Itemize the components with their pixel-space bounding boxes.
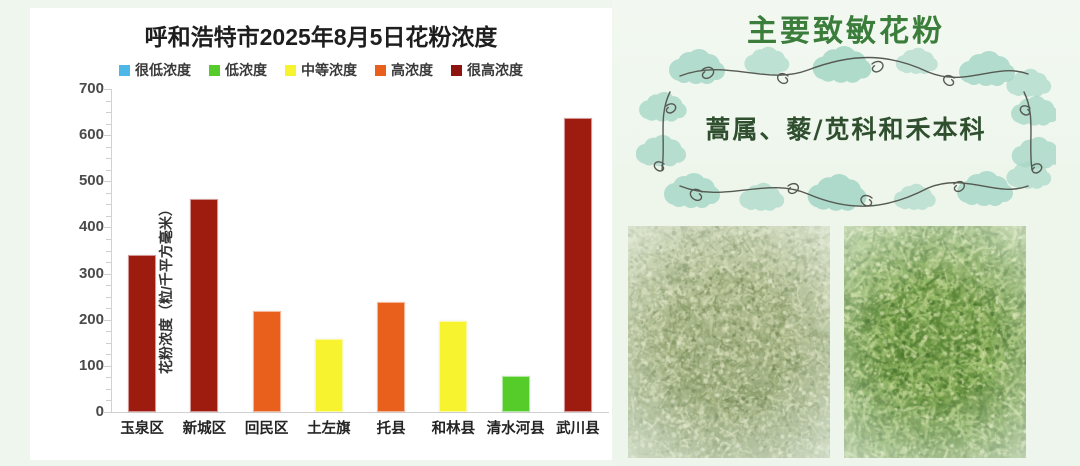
- y-tick-mark: [104, 181, 111, 182]
- plant-photos: [612, 218, 1080, 466]
- y-tick-mark: [106, 216, 111, 217]
- y-tick-mark: [104, 412, 111, 413]
- legend-item-4: 很高浓度: [451, 60, 523, 80]
- y-tick-mark: [106, 239, 111, 240]
- y-tick-mark: [106, 331, 111, 332]
- chart-title: 呼和浩特市2025年8月5日花粉浓度: [30, 18, 612, 52]
- bar-武川县[interactable]: [564, 118, 592, 412]
- legend-swatch-icon: [285, 65, 296, 76]
- bar-玉泉区[interactable]: [128, 255, 156, 412]
- x-tick-label-和林县: 和林县: [422, 417, 484, 438]
- bar-slot: [547, 89, 609, 412]
- y-tick-mark: [106, 170, 111, 171]
- y-tick-mark: [106, 400, 111, 401]
- pollen-chart-card: 呼和浩特市2025年8月5日花粉浓度 很低浓度低浓度中等浓度高浓度很高浓度 花粉…: [30, 8, 612, 460]
- bar-清水河县[interactable]: [502, 376, 530, 412]
- x-tick-label-回民区: 回民区: [236, 417, 298, 438]
- x-tick-label-新城区: 新城区: [173, 417, 235, 438]
- frame-text-area: 蒿属、藜/苋科和禾本科: [678, 72, 1014, 184]
- y-tick-label: 300: [60, 265, 104, 282]
- bar-slot: [485, 89, 547, 412]
- chart-legend: 很低浓度低浓度中等浓度高浓度很高浓度: [30, 60, 612, 80]
- legend-swatch-icon: [375, 65, 386, 76]
- bar-土左旗[interactable]: [315, 339, 343, 412]
- y-tick-mark: [106, 343, 111, 344]
- legend-swatch-icon: [119, 65, 130, 76]
- bar-slot: [298, 89, 360, 412]
- sage-artemisia-plant-photo: [628, 226, 830, 458]
- bar-新城区[interactable]: [190, 199, 218, 412]
- y-tick-mark: [104, 135, 111, 136]
- y-tick-label: 700: [60, 80, 104, 97]
- bar-slot: [111, 89, 173, 412]
- x-tick-label-玉泉区: 玉泉区: [111, 417, 173, 438]
- y-tick-mark: [106, 193, 111, 194]
- y-tick-mark: [106, 204, 111, 205]
- bar-回民区[interactable]: [253, 311, 281, 413]
- legend-item-0: 很低浓度: [119, 60, 191, 80]
- bar-slot: [236, 89, 298, 412]
- bar-托县[interactable]: [377, 302, 405, 412]
- y-tick-mark: [106, 354, 111, 355]
- legend-item-2: 中等浓度: [285, 60, 357, 80]
- y-axis-labels: 0100200300400500600700: [50, 89, 104, 412]
- y-tick-mark: [106, 389, 111, 390]
- y-tick-mark: [106, 101, 111, 102]
- bar-slot: [360, 89, 422, 412]
- y-tick-mark: [106, 308, 111, 309]
- y-tick-mark: [106, 251, 111, 252]
- y-tick-mark: [106, 285, 111, 286]
- y-tick-label: 200: [60, 311, 104, 328]
- bar-slot: [422, 89, 484, 412]
- y-tick-mark: [106, 158, 111, 159]
- legend-label: 很低浓度: [135, 60, 191, 80]
- y-tick-mark: [104, 366, 111, 367]
- y-tick-mark: [104, 227, 111, 228]
- x-axis-line: [111, 412, 609, 413]
- legend-label: 高浓度: [391, 60, 433, 80]
- green-chenopodium-plant-photo: [844, 226, 1026, 458]
- legend-item-1: 低浓度: [209, 60, 267, 80]
- bar-series: [111, 89, 609, 412]
- y-tick-mark: [106, 262, 111, 263]
- y-tick-label: 600: [60, 126, 104, 143]
- legend-swatch-icon: [451, 65, 462, 76]
- slide-root: 呼和浩特市2025年8月5日花粉浓度 很低浓度低浓度中等浓度高浓度很高浓度 花粉…: [0, 0, 1080, 466]
- legend-item-3: 高浓度: [375, 60, 433, 80]
- x-tick-label-清水河县: 清水河县: [485, 417, 547, 438]
- y-tick-label: 400: [60, 218, 104, 235]
- x-tick-label-托县: 托县: [360, 417, 422, 438]
- x-tick-label-武川县: 武川县: [547, 417, 609, 438]
- y-tick-label: 500: [60, 172, 104, 189]
- y-tick-mark: [104, 320, 111, 321]
- allergenic-pollen-panel: 主要致敏花粉 蒿属、藜/苋科和禾本科: [612, 0, 1080, 466]
- x-axis-labels: 玉泉区新城区回民区土左旗托县和林县清水河县武川县: [111, 417, 609, 443]
- y-tick-mark: [104, 274, 111, 275]
- legend-label: 低浓度: [225, 60, 267, 80]
- legend-label: 中等浓度: [301, 60, 357, 80]
- y-tick-mark: [106, 112, 111, 113]
- legend-swatch-icon: [209, 65, 220, 76]
- x-tick-label-土左旗: 土左旗: [298, 417, 360, 438]
- decorative-frame: 蒿属、藜/苋科和禾本科: [636, 46, 1056, 211]
- y-tick-label: 0: [60, 403, 104, 420]
- panel-title: 主要致敏花粉: [612, 6, 1080, 50]
- legend-label: 很高浓度: [467, 60, 523, 80]
- y-tick-mark: [106, 124, 111, 125]
- y-tick-mark: [106, 147, 111, 148]
- bar-slot: [173, 89, 235, 412]
- y-tick-mark: [104, 89, 111, 90]
- allergen-list-text: 蒿属、藜/苋科和禾本科: [705, 110, 986, 146]
- y-tick-mark: [106, 377, 111, 378]
- y-tick-mark: [106, 297, 111, 298]
- bar-和林县[interactable]: [439, 321, 467, 412]
- y-tick-label: 100: [60, 357, 104, 374]
